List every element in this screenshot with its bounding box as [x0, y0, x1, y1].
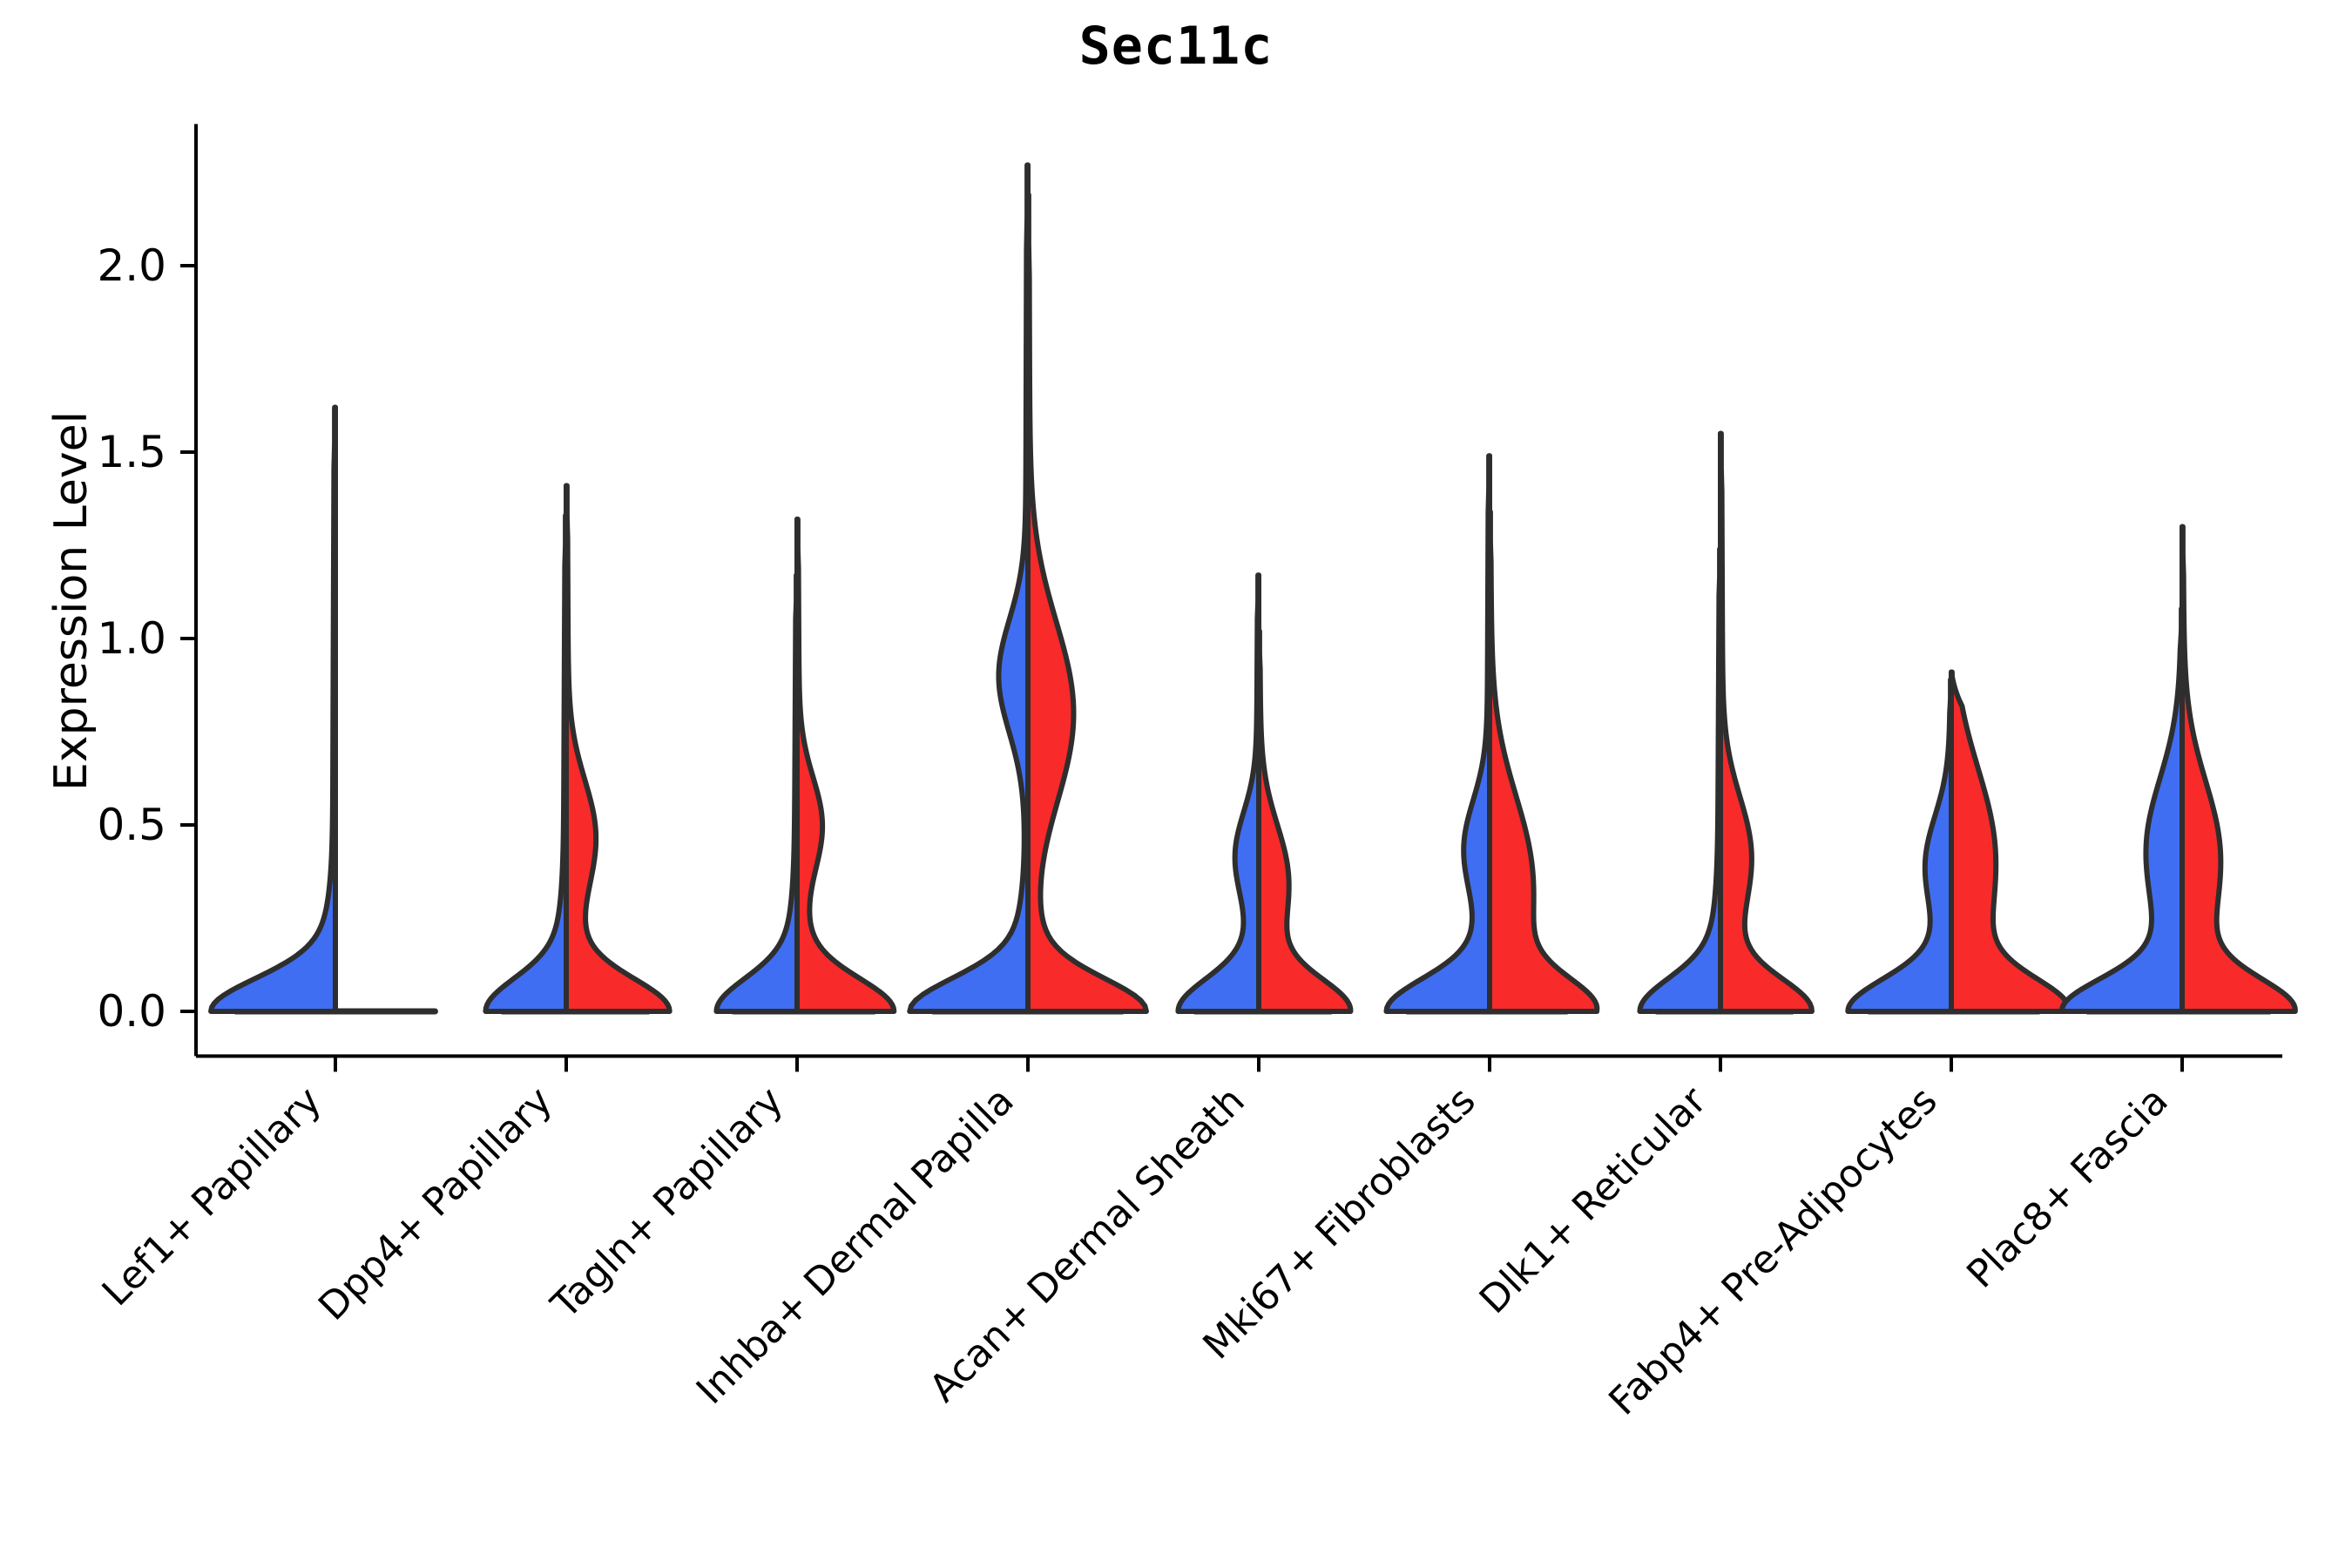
violin-half-left[interactable]	[909, 165, 1028, 1011]
violin-half-right[interactable]	[797, 519, 894, 1011]
violin-half-right[interactable]	[2182, 527, 2295, 1011]
violin-group[interactable]	[716, 519, 894, 1011]
violin-half-left[interactable]	[1639, 549, 1720, 1011]
violin-group[interactable]	[211, 408, 435, 1011]
y-tick-label: 0.0	[97, 986, 166, 1037]
violin-half-left[interactable]	[1386, 456, 1490, 1011]
violin-plot-figure: Sec11c Expression Level 0.00.51.01.52.0 …	[0, 0, 2352, 1568]
chart-canvas: 0.00.51.01.52.0 Lef1+ PapillaryDpp4+ Pap…	[0, 0, 2352, 1568]
violin-half-left[interactable]	[211, 408, 335, 1011]
violin-half-left[interactable]	[2062, 609, 2182, 1011]
violin-group[interactable]	[2062, 527, 2295, 1011]
violin-half-right[interactable]	[1720, 434, 1812, 1011]
x-ticks-layer: Lef1+ PapillaryDpp4+ PapillaryTagln+ Pap…	[94, 1056, 2182, 1423]
violin-half-right[interactable]	[1028, 195, 1146, 1011]
x-tick-label: Lef1+ Papillary	[94, 1078, 330, 1315]
violin-half-left[interactable]	[1178, 575, 1259, 1011]
violin-group[interactable]	[909, 165, 1146, 1011]
y-tick-label: 2.0	[97, 240, 166, 291]
y-ticks-layer: 0.00.51.01.52.0	[97, 240, 196, 1037]
y-tick-label: 1.0	[97, 613, 166, 664]
violin-half-right[interactable]	[1490, 511, 1597, 1011]
violin-half-left[interactable]	[1848, 679, 1951, 1011]
violin-group[interactable]	[1386, 456, 1597, 1011]
violin-half-left[interactable]	[716, 575, 797, 1011]
violin-half-right[interactable]	[1951, 672, 2069, 1012]
x-tick-label: Dlk1+ Reticular	[1471, 1078, 1716, 1322]
violin-half-right[interactable]	[566, 486, 670, 1012]
violin-group[interactable]	[485, 486, 669, 1012]
violin-group[interactable]	[1848, 672, 2069, 1012]
x-tick-label: Tagln+ Papillary	[543, 1078, 792, 1328]
violin-group[interactable]	[1178, 575, 1350, 1011]
violins-layer	[211, 165, 2295, 1011]
y-tick-label: 0.5	[97, 800, 166, 850]
violin-half-left[interactable]	[485, 516, 566, 1011]
y-tick-label: 1.5	[97, 427, 166, 477]
x-tick-label: Dpp4+ Papillary	[310, 1078, 561, 1329]
x-tick-label: Plac8+ Fascia	[1958, 1078, 2177, 1297]
violin-group[interactable]	[1639, 434, 1812, 1011]
violin-half-right[interactable]	[1259, 631, 1350, 1011]
